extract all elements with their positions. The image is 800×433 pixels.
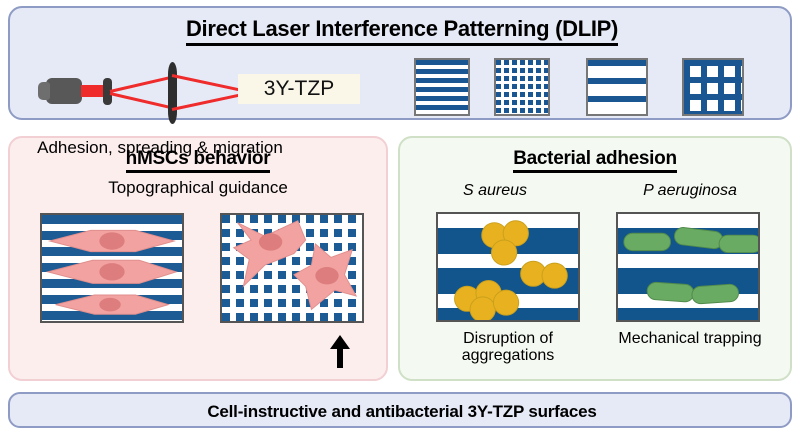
dlip-panel: Direct Laser Interference Patterning (DL… (8, 6, 792, 120)
cell-nucleus (99, 232, 124, 249)
coccus (470, 297, 495, 320)
laser-source-icon (46, 78, 82, 104)
cell-nucleus (259, 233, 282, 250)
cocci-group (438, 214, 578, 320)
hmsc-tile-dots (220, 213, 364, 323)
focusing-lens-icon (168, 62, 177, 124)
laser-ray-lower (110, 92, 177, 110)
dlip-title: Direct Laser Interference Patterning (DL… (10, 16, 794, 46)
stellate-cell (234, 221, 306, 287)
laser-ray-upper (110, 75, 177, 93)
rod-bacillus (624, 233, 671, 250)
rod-bacillus (691, 284, 739, 305)
substrate-label: 3Y-TZP (238, 74, 360, 104)
coccus (493, 290, 518, 315)
swatch-cross-pattern-fine (494, 58, 550, 116)
hmsc-subtitle: Topographical guidance (10, 178, 386, 198)
coccus (542, 263, 567, 288)
bacteria-title: Bacterial adhesion (400, 148, 790, 170)
laser-ray-converge-upper (172, 74, 241, 91)
swatch-line-pattern-coarse (586, 58, 648, 116)
species-label-s-aureus: S aureus (410, 182, 580, 200)
swatch-cross-pattern-coarse (682, 58, 744, 116)
p-aeruginosa-tile (616, 212, 760, 322)
coccus (491, 240, 516, 265)
rod-bacillus (647, 282, 695, 303)
rod-bacillus (674, 227, 724, 250)
increase-arrow-icon (328, 334, 352, 370)
hmsc-panel: hMSCs behavior Topographical guidance (8, 136, 388, 381)
laser-beam (81, 85, 105, 97)
s-aureus-tile (436, 212, 580, 322)
conclusion-text: Cell-instructive and antibacterial 3Y-TZ… (10, 402, 794, 422)
cell-nucleus (99, 298, 120, 311)
spindle-cells-group (42, 215, 182, 321)
laser-ray-converge-lower (172, 93, 241, 110)
rod-bacillus (719, 235, 758, 252)
species-label-p-aeruginosa: P aeruginosa (600, 182, 780, 200)
s-aureus-caption: Disruption of aggregations (422, 330, 594, 364)
hmsc-tile-lines (40, 213, 184, 323)
rods-group (618, 214, 758, 320)
cell-nucleus (99, 263, 124, 280)
conclusion-banner: Cell-instructive and antibacterial 3Y-TZ… (8, 392, 792, 428)
graphical-abstract: Direct Laser Interference Patterning (DL… (0, 0, 800, 433)
p-aeruginosa-caption: Mechanical trapping (604, 330, 776, 347)
cell-nucleus (315, 267, 338, 284)
stellate-cells-group (222, 215, 362, 321)
hmsc-title: hMSCs behavior (10, 148, 386, 170)
bacterial-adhesion-panel: Bacterial adhesion S aureus P aeruginosa (398, 136, 792, 381)
swatch-line-pattern-fine (414, 58, 470, 116)
